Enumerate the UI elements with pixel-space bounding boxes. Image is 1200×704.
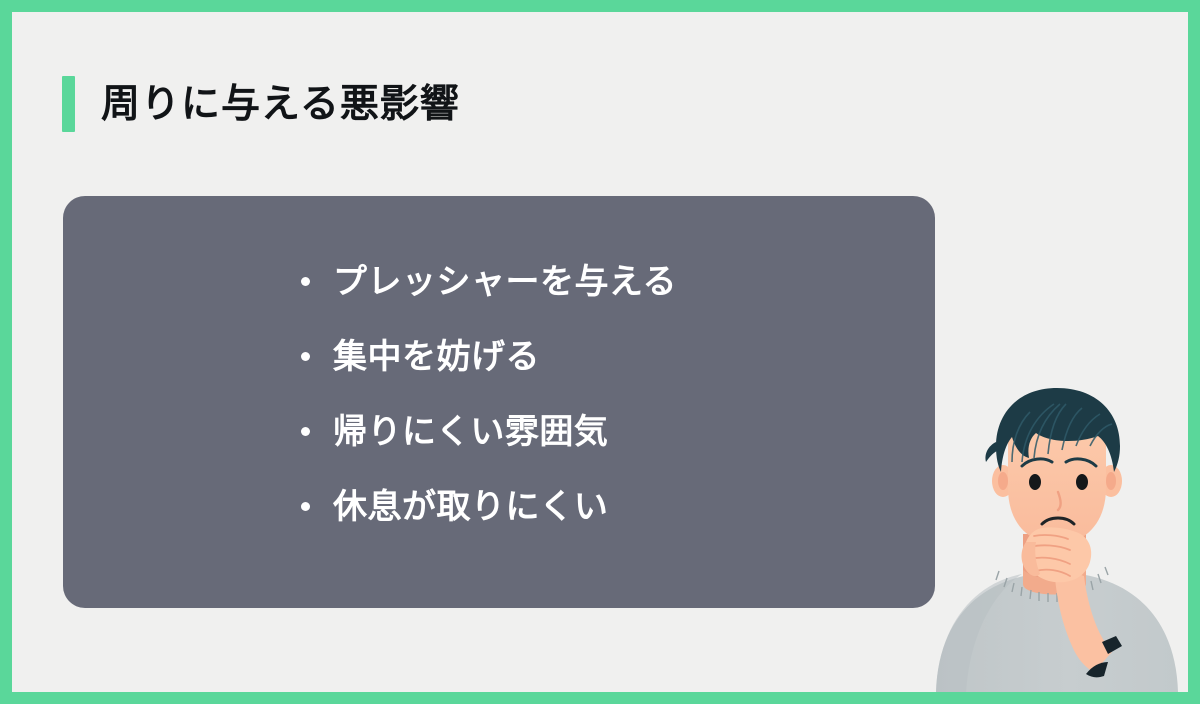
list-item: 集中を妨げる bbox=[301, 319, 677, 394]
list-item-label: プレッシャーを与える bbox=[333, 265, 677, 299]
slide-root: 周りに与える悪影響 プレッシャーを与える 集中を妨げる 帰りにくい雰囲気 bbox=[0, 0, 1200, 704]
list-item-label: 休息が取りにくい bbox=[333, 490, 608, 524]
left-ear-inner bbox=[998, 472, 1008, 490]
left-eye bbox=[1029, 474, 1041, 490]
right-eye bbox=[1076, 474, 1088, 490]
thinking-man-illustration bbox=[926, 384, 1188, 692]
list-item: 休息が取りにくい bbox=[301, 469, 677, 544]
title-accent-bar bbox=[62, 76, 75, 132]
right-ear-inner bbox=[1106, 472, 1116, 490]
bullet-list: プレッシャーを与える 集中を妨げる 帰りにくい雰囲気 休息が取りにくい bbox=[301, 244, 677, 544]
bullet-dot-icon bbox=[301, 427, 310, 436]
content-card: プレッシャーを与える 集中を妨げる 帰りにくい雰囲気 休息が取りにくい bbox=[63, 196, 935, 608]
bullet-dot-icon bbox=[301, 502, 310, 511]
title-label: 周りに与える悪影響 bbox=[101, 85, 460, 124]
list-item: プレッシャーを与える bbox=[301, 244, 677, 319]
bullet-dot-icon bbox=[301, 352, 310, 361]
slide-canvas: 周りに与える悪影響 プレッシャーを与える 集中を妨げる 帰りにくい雰囲気 bbox=[12, 12, 1188, 692]
page-title: 周りに与える悪影響 bbox=[62, 74, 460, 134]
list-item-label: 帰りにくい雰囲気 bbox=[333, 415, 608, 449]
list-item: 帰りにくい雰囲気 bbox=[301, 394, 677, 469]
bullet-dot-icon bbox=[301, 277, 310, 286]
list-item-label: 集中を妨げる bbox=[333, 340, 540, 374]
